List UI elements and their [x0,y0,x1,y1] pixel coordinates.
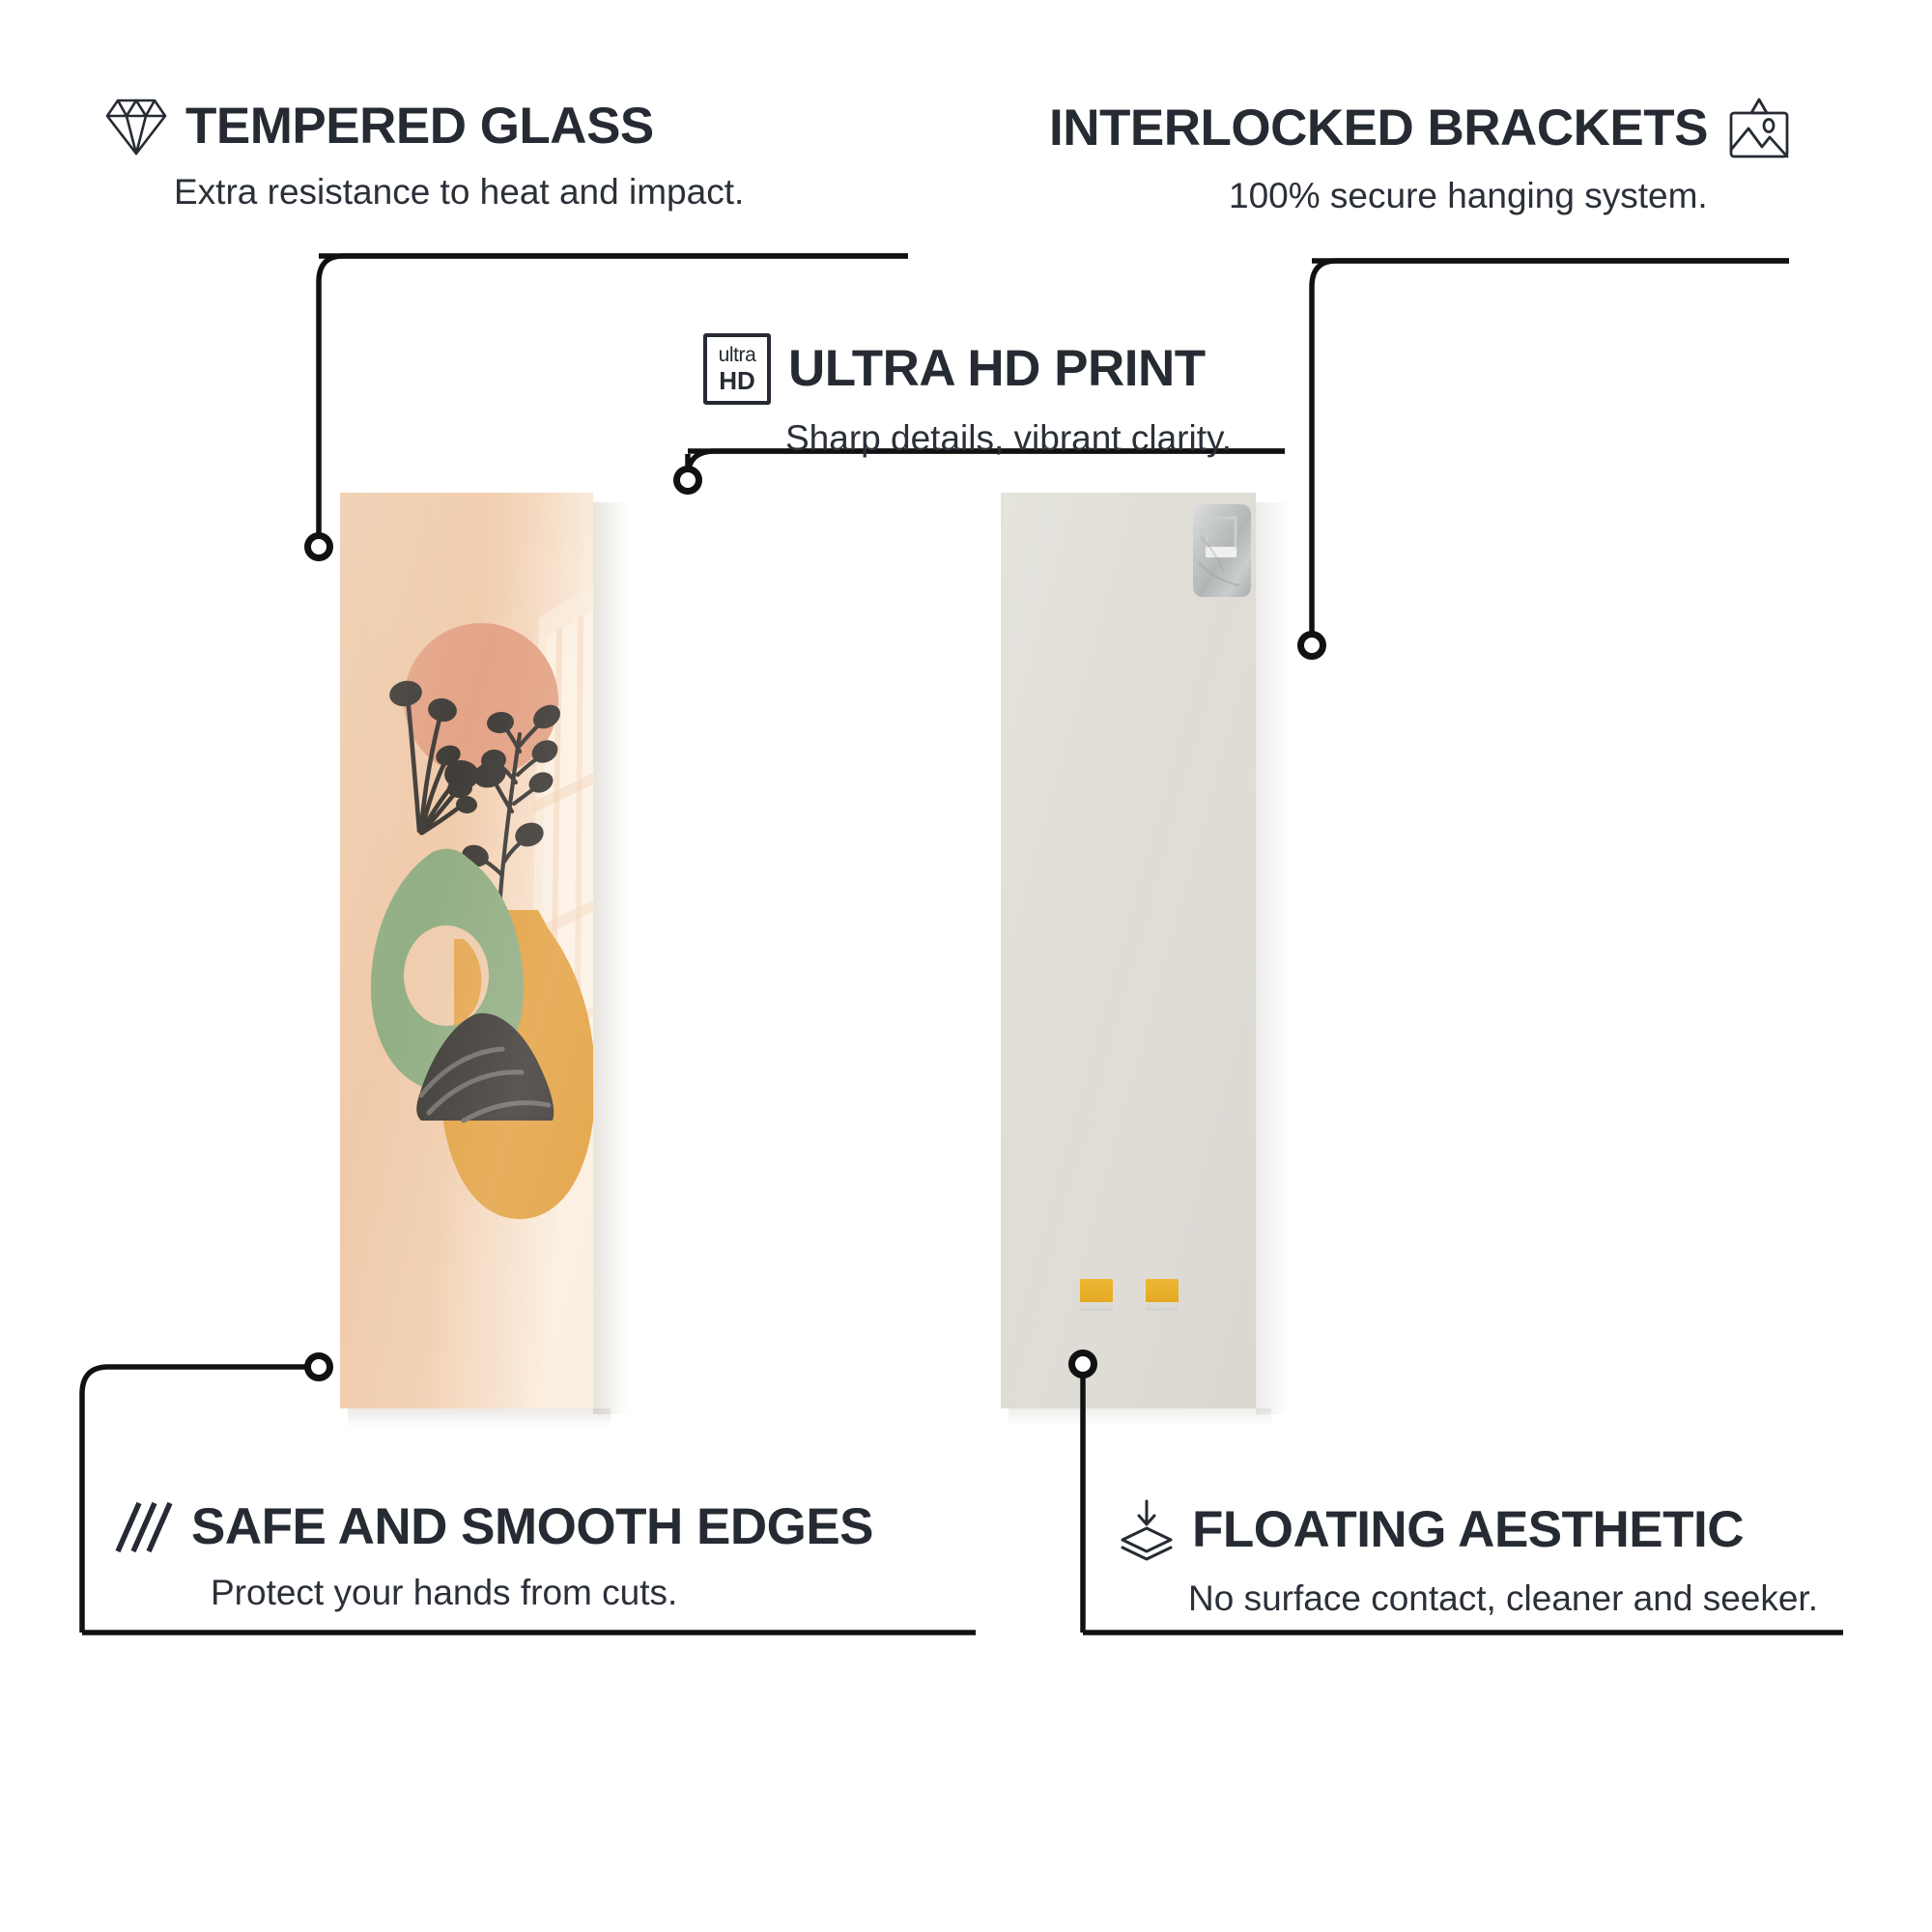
ultra-hd-badge-line1: ultra [719,345,756,365]
feature-subtitle: No surface contact, cleaner and seeker. [1188,1580,1818,1618]
feature-ultra-hd-print: ultra HD ULTRA HD PRINT Sharp details, v… [703,333,1232,458]
feature-subtitle: 100% secure hanging system. [1229,178,1793,215]
glass-sheen [340,493,593,1408]
feature-subtitle: Protect your hands from cuts. [211,1575,873,1612]
back-panel [1001,493,1256,1408]
feature-tempered-glass: TEMPERED GLASS Extra resistance to heat … [104,97,744,212]
artwork-panel-bottom-shadow [348,1408,611,1428]
feature-safe-and-smooth-edges: SAFE AND SMOOTH EDGES Protect your hands… [114,1499,873,1612]
arrow-down-onto-layers-icon [1119,1499,1175,1561]
feature-subtitle: Sharp details, vibrant clarity. [785,420,1232,458]
feature-title: INTERLOCKED BRACKETS [1049,102,1708,155]
anchor-ring-ultra-hd [677,469,699,492]
feature-ultra-hd-print-head: ultra HD ULTRA HD PRINT [703,333,1232,405]
feature-interlocked-brackets: INTERLOCKED BRACKETS 100% secure hanging… [1049,97,1793,215]
feature-floating-aesthetic: FLOATING AESTHETIC No surface contact, c… [1119,1499,1818,1618]
feature-subtitle: Extra resistance to heat and impact. [174,174,744,212]
anchor-ring-tempered-glass [308,536,330,558]
callout-line-interlocked-brackets [1312,261,1789,635]
feature-title: ULTRA HD PRINT [788,343,1206,395]
artwork-panel [340,493,593,1408]
feature-title: SAFE AND SMOOTH EDGES [191,1501,873,1553]
diamond-icon [104,97,168,156]
artwork-panel-shadow [593,502,628,1414]
feature-floating-aesthetic-head: FLOATING AESTHETIC [1119,1499,1818,1561]
ultra-hd-badge-line2: HD [719,368,755,393]
feature-safe-and-smooth-edges-head: SAFE AND SMOOTH EDGES [114,1499,873,1555]
feature-tempered-glass-head: TEMPERED GLASS [104,97,744,156]
anchor-ring-interlocked-brackets [1301,635,1323,657]
infographic-stage: TEMPERED GLASS Extra resistance to heat … [0,0,1932,1932]
feature-title: TEMPERED GLASS [185,100,654,153]
hanging-picture-frame-icon [1725,97,1793,160]
back-panel-shadow [1256,502,1289,1414]
diagonal-edge-lines-icon [114,1499,174,1555]
feature-interlocked-brackets-head: INTERLOCKED BRACKETS [1049,97,1793,160]
feature-title: FLOATING AESTHETIC [1192,1504,1744,1556]
anchor-ring-safe-edges [308,1356,330,1378]
ultra-hd-badge-icon: ultra HD [703,333,771,405]
back-panel-bottom-shadow [1009,1408,1271,1426]
back-panel-sheen [1001,493,1256,1408]
callout-lines [0,0,1932,1932]
